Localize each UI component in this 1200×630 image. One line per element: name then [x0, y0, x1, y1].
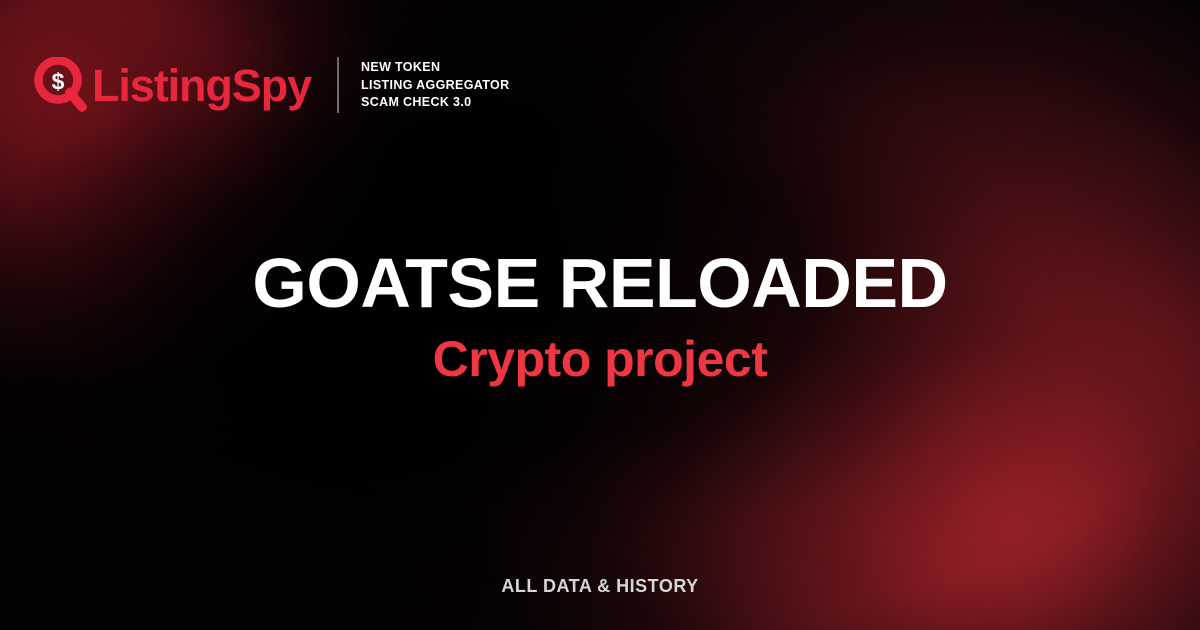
footer-section: ALL DATA & HISTORY — [0, 576, 1200, 597]
tagline-line-2: LISTING AGGREGATOR — [361, 77, 509, 94]
magnifier-dollar-icon: $ — [34, 57, 88, 113]
tagline-line-3: SCAM CHECK 3.0 — [361, 94, 509, 111]
brand-logo[interactable]: $ ListingSpy — [34, 57, 311, 113]
social-share-card: $ ListingSpy NEW TOKEN LISTING AGGREGATO… — [0, 0, 1200, 630]
page-title: GOATSE RELOADED — [40, 247, 1160, 319]
tagline-line-1: NEW TOKEN — [361, 59, 509, 76]
brand-divider — [337, 57, 339, 113]
svg-text:$: $ — [52, 69, 65, 95]
brand-header[interactable]: $ ListingSpy NEW TOKEN LISTING AGGREGATO… — [34, 57, 509, 113]
brand-wordmark: ListingSpy — [92, 63, 311, 108]
brand-tagline: NEW TOKEN LISTING AGGREGATOR SCAM CHECK … — [361, 59, 509, 111]
footer-tagline: ALL DATA & HISTORY — [501, 576, 698, 596]
page-subtitle: Crypto project — [40, 333, 1160, 386]
hero-section: GOATSE RELOADED Crypto project — [0, 247, 1200, 386]
